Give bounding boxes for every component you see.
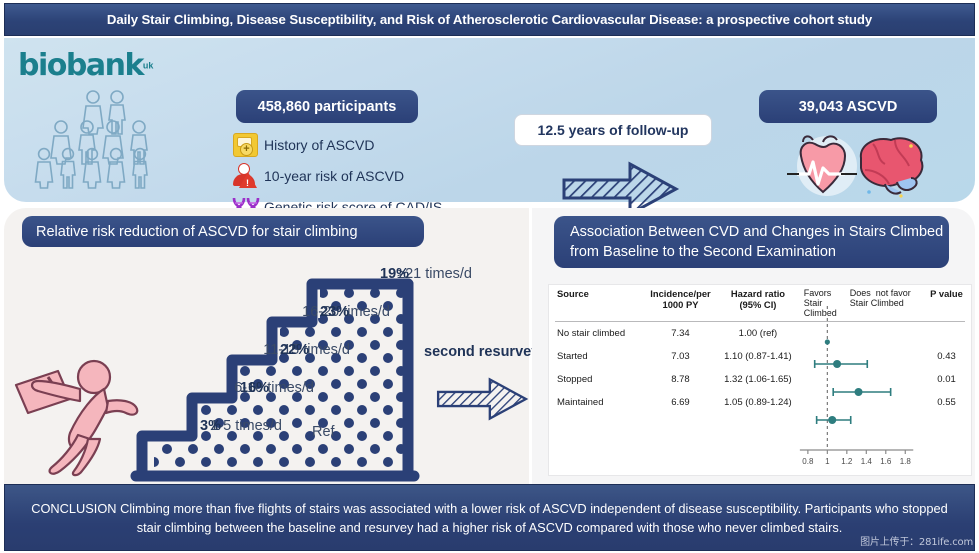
column-header-incidence: Incidence/per1000 PY [647,285,714,321]
cell-source: No stair climbed [549,322,647,345]
stair-step-label-11-15: 11-15 times/d [128,342,350,358]
forest-point-estimate [833,360,841,368]
forest-axis-tick-label: 0.8 [802,457,814,466]
hatched-right-arrow-icon [435,370,529,428]
ascvd-events-label: 39,043 ASCVD [799,99,898,115]
population-crowd-icon [22,90,202,195]
column-header-source: Source [549,285,647,321]
poster-title-banner: Daily Stair Climbing, Disease Susceptibi… [4,3,975,36]
list-item: ! 10-year risk of ASCVD [228,161,558,190]
list-item-label: History of ASCVD [264,137,374,153]
participants-count-badge: 458,860 participants [236,90,418,123]
cell-p-value: 0.01 [922,368,971,391]
list-item: + History of ASCVD [228,130,558,159]
stair-step-pct-6-10: 16% [240,380,269,396]
medical-folder-icon: + [228,132,262,158]
participants-count-label: 458,860 participants [258,99,397,115]
uk-biobank-logo: biobankuk [18,48,198,94]
stair-step-pct-21-plus: 19% [380,266,409,282]
biobank-wordmark: biobank [18,48,143,83]
stair-step-pct-16-20: 23% [320,304,349,320]
biobank-uk-superscript: uk [143,61,154,71]
cell-p-value: 0.55 [922,391,971,414]
right-panel-header-label: Association Between CVD and Changes in S… [570,222,949,262]
forest-axis-tick-label: 1.4 [861,457,873,466]
stair-step-pct-1-5: 3% [200,418,221,434]
cell-source: Maintained [549,391,647,414]
cell-incidence: 7.34 [647,322,714,345]
followup-duration-label: 12.5 years of follow-up [538,122,689,138]
forest-axis-tick-label: 1.2 [841,457,853,466]
person-risk-warning-icon: ! [228,163,262,189]
right-panel-header: Association Between CVD and Changes in S… [554,216,949,268]
stair-step-pct-11-15: 22% [280,342,309,358]
conclusion-banner: CONCLUSION Climbing more than five fligh… [4,484,975,551]
cell-incidence: 8.78 [647,368,714,391]
cell-hazard-ratio: 1.00 (ref) [714,322,802,345]
cell-incidence: 7.03 [647,345,714,368]
cell-incidence: 6.69 [647,391,714,414]
conclusion-text: CONCLUSION Climbing more than five fligh… [29,499,950,537]
cell-source: Stopped [549,368,647,391]
cell-hazard-ratio: 1.10 (0.87-1.41) [714,345,802,368]
heart-and-brain-icon [779,130,929,202]
column-header-p-value: P value [922,285,971,321]
running-person-with-briefcase-icon [8,355,158,477]
cell-hazard-ratio: 1.32 (1.06-1.65) [714,368,802,391]
cell-p-value [922,322,971,345]
forest-point-estimate [828,416,836,424]
cell-hazard-ratio: 1.05 (0.89-1.24) [714,391,802,414]
infographic-poster: Daily Stair Climbing, Disease Susceptibi… [0,0,979,553]
study-population-panel: biobankuk [4,38,975,202]
second-resurvey-label: second resurvey [424,344,539,360]
forest-axis-tick-label: 1.8 [900,457,912,466]
stair-step-label-ref: Ref [312,424,335,440]
page-title: Daily Stair Climbing, Disease Susceptibi… [107,12,872,27]
cell-p-value: 0.43 [922,345,971,368]
forest-axis-tick-label: 1.6 [880,457,892,466]
forest-plot: 0.811.21.41.61.8 [797,302,925,472]
followup-duration-badge: 12.5 years of follow-up [514,114,712,146]
forest-axis-tick-label: 1 [825,457,830,466]
stair-step-label-6-10: 6-10 times/d [132,380,314,396]
cell-source: Started [549,345,647,368]
stair-step-label-21-plus: ≥21 times/d [200,266,472,282]
forest-point-estimate [855,388,863,396]
column-header-hazard-ratio: Hazard ratio(95% CI) [714,285,802,321]
watermark: 图片上传于：281ife.com [860,533,973,548]
forest-point-estimate [825,339,830,344]
ascvd-events-badge: 39,043 ASCVD [759,90,937,123]
list-item-label: 10-year risk of ASCVD [264,168,404,184]
stair-step-label-16-20: 16-20 times/d [158,304,390,320]
